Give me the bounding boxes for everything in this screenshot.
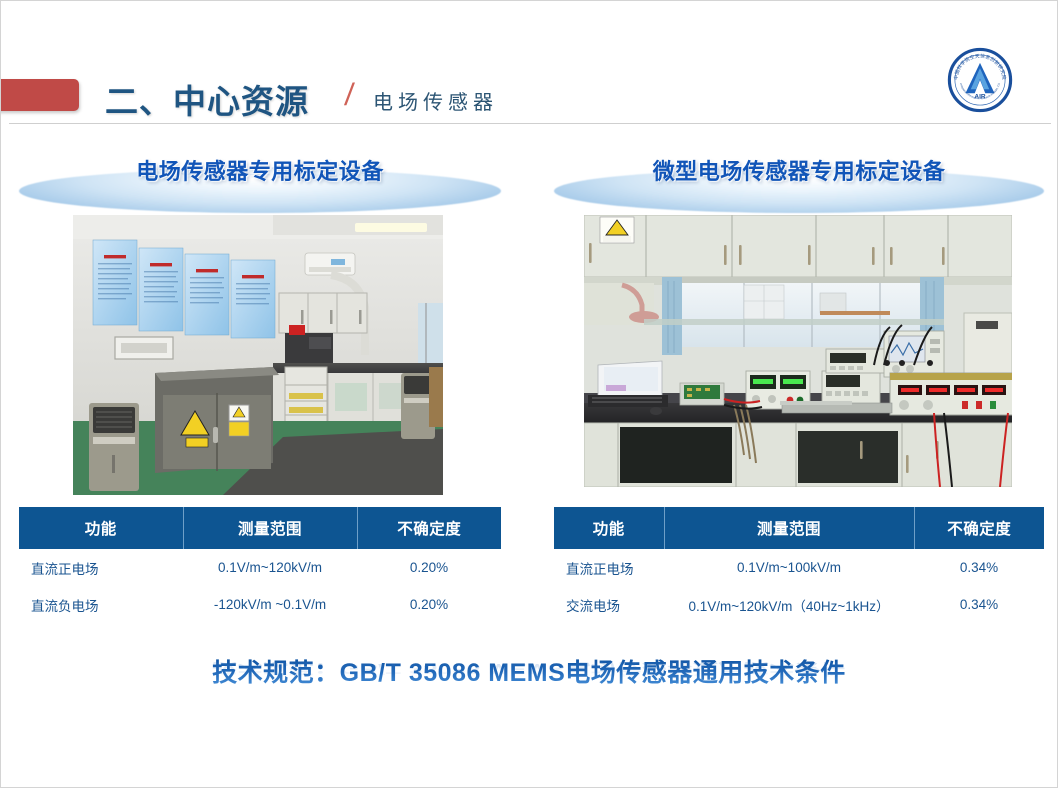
section-title-container-right: 微型电场传感器专用标定设备 微型电场传感器专用标定设备 [554,151,1044,215]
slide-canvas: 二、中心资源 / 电场传感器 AIR 中国科学院空天信息创新研究院 Aerosp… [0,0,1058,788]
header-divider [9,123,1051,124]
column-header-uncertainty: 不确定度 [914,507,1044,549]
cell-function: 交流电场 [554,586,664,623]
cell-uncertainty: 0.34% [914,586,1044,623]
cell-range: 0.1V/m~120kV/m（40Hz~1kHz） [664,586,914,623]
table-row: 直流正电场 0.1V/m~100kV/m 0.34% [554,549,1044,586]
cell-range: -120kV/m ~0.1V/m [183,586,357,623]
air-institute-logo-icon: AIR 中国科学院空天信息创新研究院 Aerospace Information… [947,47,1013,113]
technical-standard-caption: 技术规范：GB/T 35086 MEMS电场传感器通用技术条件 [212,653,846,689]
section-title-right: 微型电场传感器专用标定设备 [554,154,1044,186]
cell-range: 0.1V/m~120kV/m [183,549,357,586]
column-header-function: 功能 [554,507,664,549]
panel-electric-field-sensor-calibration: 电场传感器专用标定设备 电场传感器专用标定设备 [19,151,501,623]
spec-table-left: 功能 测量范围 不确定度 直流正电场 0.1V/m~120kV/m 0.20% … [19,507,501,623]
cell-uncertainty: 0.34% [914,549,1044,586]
table-row: 直流负电场 -120kV/m ~0.1V/m 0.20% [19,586,501,623]
page-title: 二、中心资源 [105,75,309,123]
column-header-uncertainty: 不确定度 [357,507,501,549]
cell-uncertainty: 0.20% [357,549,501,586]
table-row: 交流电场 0.1V/m~120kV/m（40Hz~1kHz） 0.34% [554,586,1044,623]
photo-calibration-lab-bench [584,215,1012,487]
header-subtitle: 电场传感器 [373,86,498,115]
section-title-left: 电场传感器专用标定设备 [19,154,501,186]
table-header-row: 功能 测量范围 不确定度 [19,507,501,549]
column-header-range: 测量范围 [183,507,357,549]
cell-function: 直流正电场 [554,549,664,586]
cell-uncertainty: 0.20% [357,586,501,623]
slide-header: 二、中心资源 / 电场传感器 [1,1,1058,125]
table-header-row: 功能 测量范围 不确定度 [554,507,1044,549]
cell-function: 直流正电场 [19,549,183,586]
photo-calibration-lab-room [73,215,443,495]
cell-function: 直流负电场 [19,586,183,623]
column-header-range: 测量范围 [664,507,914,549]
section-title-container-left: 电场传感器专用标定设备 电场传感器专用标定设备 [19,151,501,215]
table-row: 直流正电场 0.1V/m~120kV/m 0.20% [19,549,501,586]
technical-standard-caption-container: 技术规范：GB/T 35086 MEMS电场传感器通用技术条件 技术规范：GB/… [1,653,1057,723]
panel-micro-electric-field-sensor-calibration: 微型电场传感器专用标定设备 微型电场传感器专用标定设备 [554,151,1044,623]
header-separator-slash: / [343,77,355,113]
column-header-function: 功能 [19,507,183,549]
cell-range: 0.1V/m~100kV/m [664,549,914,586]
spec-table-right: 功能 测量范围 不确定度 直流正电场 0.1V/m~100kV/m 0.34% … [554,507,1044,623]
header-accent-bar [0,79,79,111]
